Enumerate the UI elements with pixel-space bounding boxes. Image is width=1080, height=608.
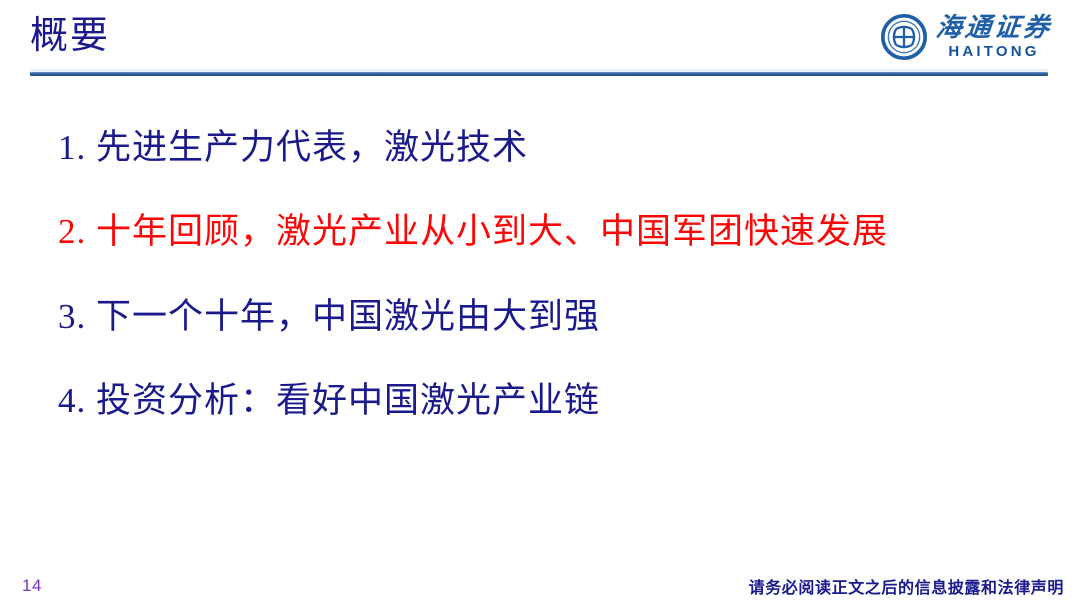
- outline-list: 1. 先进生产力代表，激光技术 2. 十年回顾，激光产业从小到大、中国军团快速发…: [58, 128, 1058, 421]
- presentation-slide: 概要 海通证券 HAITONG 1. 先进: [0, 0, 1080, 608]
- logo-wordmark: 海通证券 HAITONG: [936, 15, 1052, 59]
- haitong-emblem-icon: [881, 14, 927, 60]
- header-divider: [30, 72, 1048, 76]
- outline-item-4[interactable]: 4. 投资分析：看好中国激光产业链: [58, 381, 1058, 421]
- page-title: 概要: [30, 13, 110, 61]
- outline-item-2[interactable]: 2. 十年回顾，激光产业从小到大、中国军团快速发展: [58, 212, 1058, 252]
- outline-item-3[interactable]: 3. 下一个十年，中国激光由大到强: [58, 297, 1058, 337]
- logo-chinese-text: 海通证券: [935, 15, 1054, 41]
- page-number: 14: [22, 576, 42, 596]
- logo-english-text: HAITONG: [948, 44, 1039, 59]
- footer-disclaimer: 请务必阅读正文之后的信息披露和法律声明: [749, 574, 1064, 598]
- haitong-logo: 海通证券 HAITONG: [881, 14, 1052, 60]
- outline-item-1[interactable]: 1. 先进生产力代表，激光技术: [58, 128, 1058, 168]
